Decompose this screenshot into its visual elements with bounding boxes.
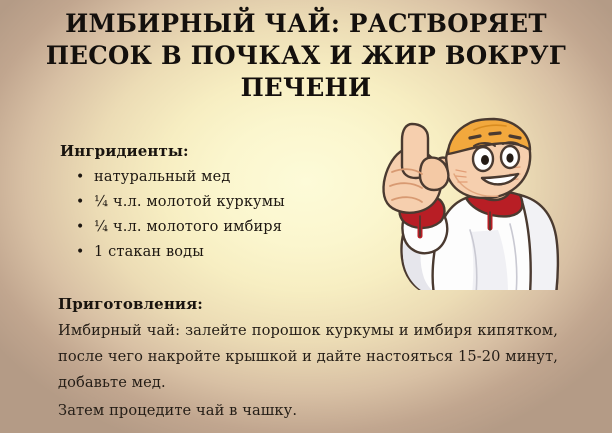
ingredient-label: 1 стакан воды (94, 244, 204, 260)
ingredient-label: ¼ ч.л. молотой куркумы (94, 194, 285, 210)
title-line-3: ПЕЧЕНИ (33, 72, 578, 104)
list-item: • натуральный мед (60, 165, 360, 190)
preparation-last-line: Затем процедите чай в чашку. (58, 398, 558, 424)
title-line-2: ПЕСОК В ПОЧКАХ И ЖИР ВОКРУГ (33, 40, 578, 72)
ingredients-heading: Ингридиенты: (60, 141, 360, 161)
list-item: • ¼ ч.л. молотого имбиря (60, 215, 360, 240)
ingredient-label: ¼ ч.л. молотого имбиря (94, 219, 282, 235)
list-item: • 1 стакан воды (60, 240, 360, 265)
poster-title: ИМБИРНЫЙ ЧАЙ: РАСТВОРЯЕТ ПЕСОК В ПОЧКАХ … (22, 8, 590, 104)
preparation-heading: Приготовления: (58, 294, 558, 314)
bullet-icon: • (76, 190, 84, 215)
preparation-section: Приготовления: Имбирный чай: залейте пор… (58, 294, 558, 424)
bullet-icon: • (76, 240, 84, 265)
ingredient-label: натуральный мед (94, 169, 230, 185)
bullet-icon: • (76, 165, 84, 190)
ingredients-list: • натуральный мед • ¼ ч.л. молотой курку… (60, 165, 360, 265)
bullet-icon: • (76, 215, 84, 240)
cartoon-man-thumbs-up-illustration (370, 112, 602, 290)
ingredients-section: Ингридиенты: • натуральный мед • ¼ ч.л. … (60, 141, 360, 265)
recipe-poster: ИМБИРНЫЙ ЧАЙ: РАСТВОРЯЕТ ПЕСОК В ПОЧКАХ … (0, 0, 612, 433)
list-item: • ¼ ч.л. молотой куркумы (60, 190, 360, 215)
title-line-1: ИМБИРНЫЙ ЧАЙ: РАСТВОРЯЕТ (33, 8, 578, 40)
preparation-body: Имбирный чай: залейте порошок куркумы и … (58, 318, 558, 396)
